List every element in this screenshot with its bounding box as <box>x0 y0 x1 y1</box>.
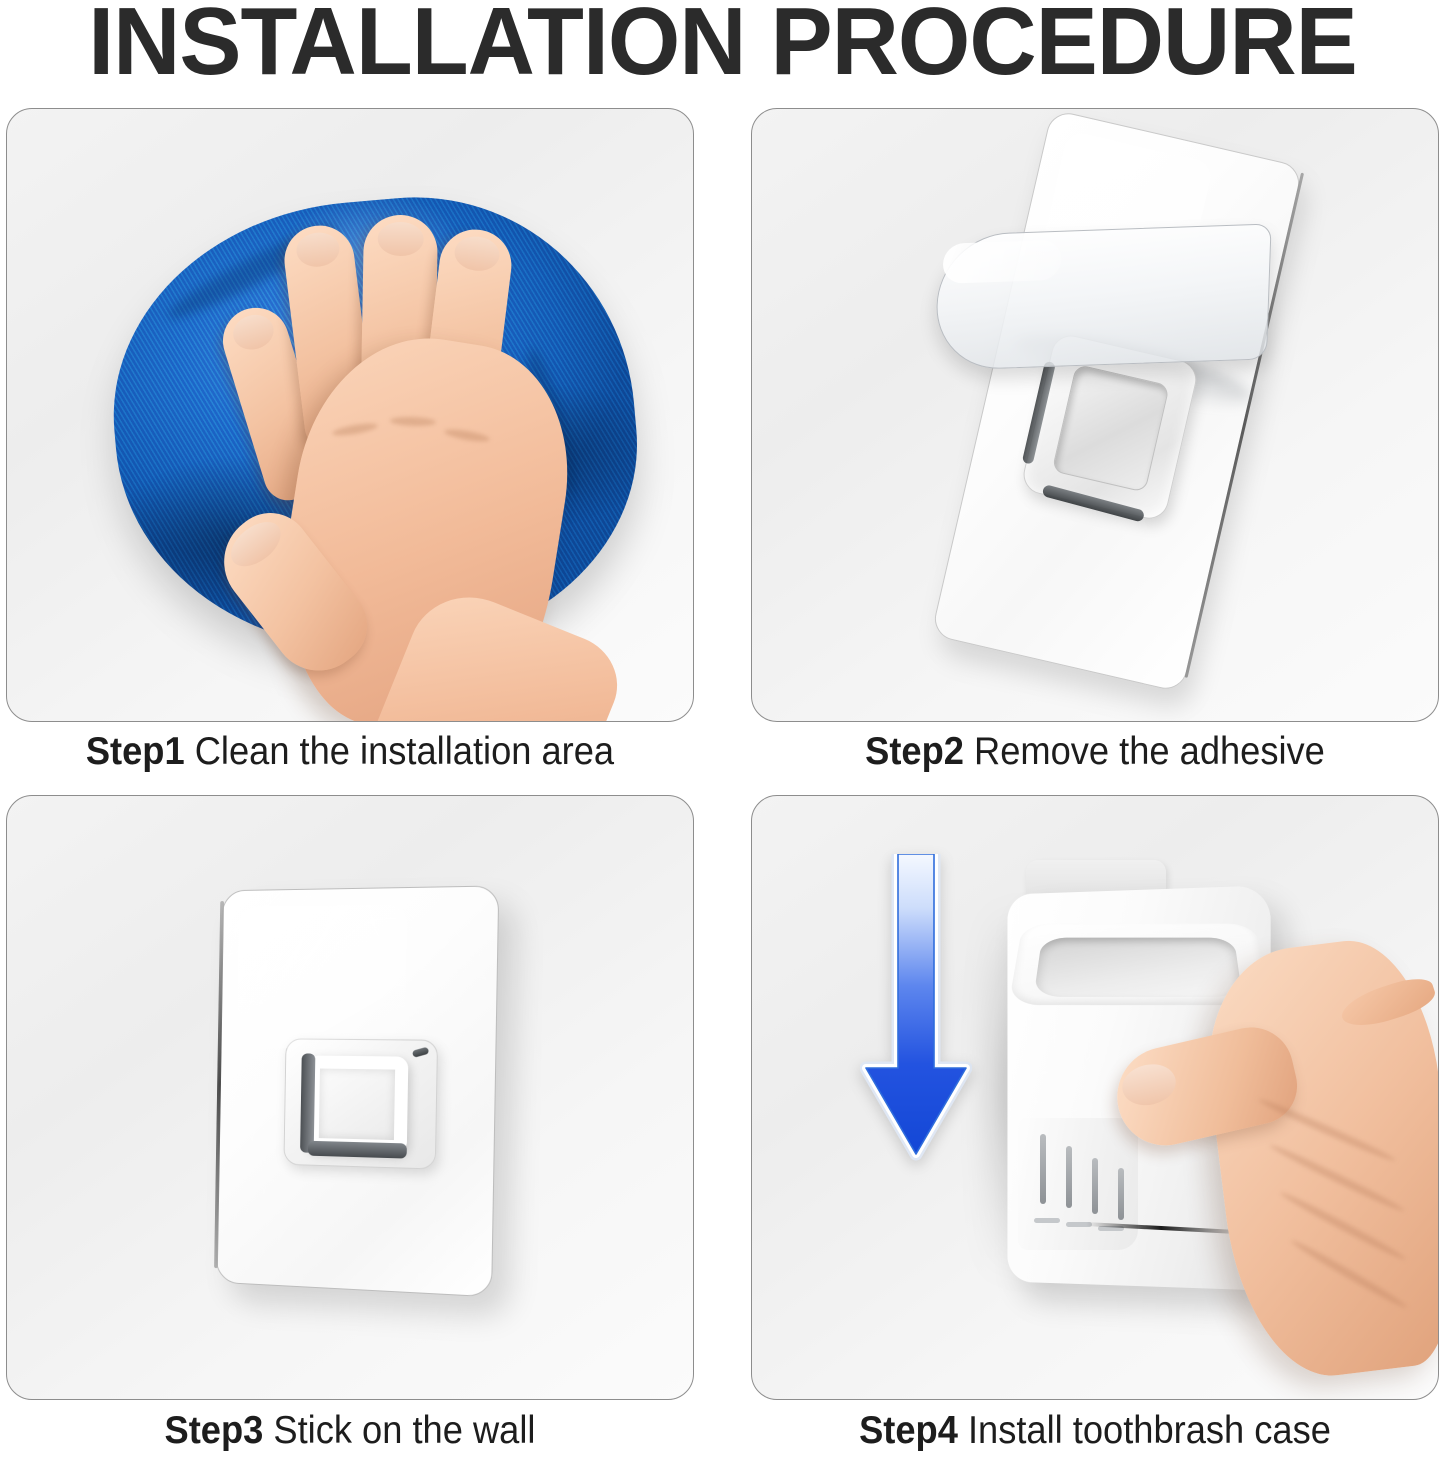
hand <box>182 219 602 722</box>
drainage-slot-panel <box>1018 1118 1138 1250</box>
slot-divider <box>1040 1134 1046 1204</box>
step-card-1: Step1 Clean the installation area <box>6 108 694 798</box>
slot-divider <box>1066 1146 1072 1208</box>
step-4-illustration-panel <box>751 795 1439 1400</box>
step-2-caption: Step2 Remove the adhesive <box>775 730 1415 774</box>
square-mount-boss <box>283 1038 438 1169</box>
sticker-on-wall-illustration <box>7 796 693 1399</box>
step-4-caption: Step4 Install toothbrash case <box>775 1409 1415 1453</box>
step-3-illustration-panel <box>6 795 694 1400</box>
step-3-caption: Step3 Stick on the wall <box>30 1409 670 1453</box>
step-1-description: Clean the installation area <box>195 730 614 773</box>
adhesive-sticker-illustration <box>752 109 1438 721</box>
mounted-adhesive-plate <box>216 885 500 1297</box>
slot-divider <box>1092 1158 1098 1214</box>
downward-blue-arrow-icon <box>860 854 972 1224</box>
bracket-bottom-edge <box>308 1141 407 1159</box>
bracket-left-edge <box>300 1053 315 1152</box>
adhesive-wall-sticker <box>931 109 1304 693</box>
step-card-3: Step3 Stick on the wall <box>6 795 694 1463</box>
page-title: INSTALLATION PROCEDURE <box>22 0 1424 92</box>
step-card-2: Step2 Remove the adhesive <box>751 108 1439 798</box>
step-1-illustration-panel <box>6 108 694 722</box>
step-2-illustration-panel <box>751 108 1439 722</box>
drain-slot <box>1034 1218 1060 1223</box>
step-4-label: Step4 <box>859 1409 968 1452</box>
step-3-label: Step3 <box>165 1409 274 1452</box>
install-case-illustration <box>752 796 1438 1399</box>
peeled-backing-film <box>934 223 1271 371</box>
plate-edge-shadow <box>214 901 224 1268</box>
hand-holding-case <box>1156 926 1439 1396</box>
bracket-ring <box>306 1055 408 1153</box>
mount-recess <box>1052 364 1170 493</box>
step-card-4: Step4 Install toothbrash case <box>751 795 1439 1463</box>
step-1-label: Step1 <box>86 730 195 773</box>
step-3-description: Stick on the wall <box>273 1409 535 1452</box>
step-4-description: Install toothbrash case <box>968 1409 1331 1452</box>
slot-divider <box>1118 1168 1124 1220</box>
hand-with-cloth-illustration <box>7 109 693 721</box>
step-2-description: Remove the adhesive <box>974 730 1325 773</box>
step-1-caption: Step1 Clean the installation area <box>30 730 670 774</box>
steps-grid: Step1 Clean the installation area <box>0 108 1445 1464</box>
step-2-label: Step2 <box>865 730 974 773</box>
bracket-nib <box>412 1047 429 1058</box>
